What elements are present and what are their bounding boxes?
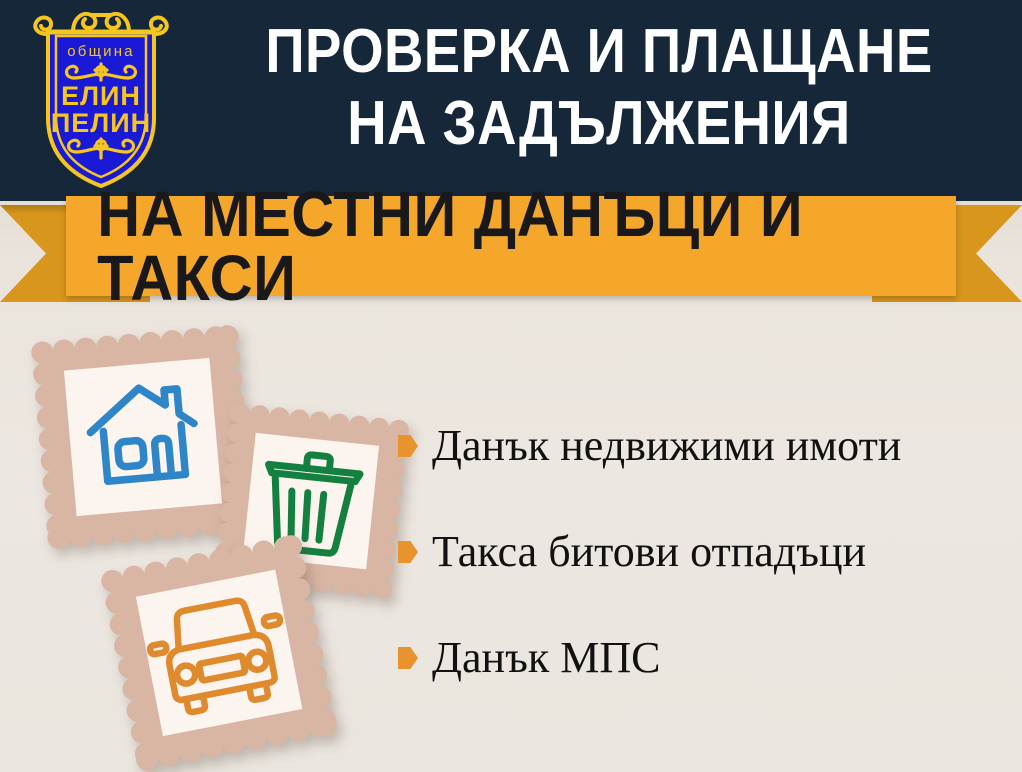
coat-of-arms-icon: община ЕЛИН ПЕЛИН	[26, 6, 176, 192]
list-item[interactable]: Данък МПС	[398, 632, 1008, 684]
logo-line-pelin: ПЕЛИН	[51, 108, 151, 138]
list-item[interactable]: Такса битови отпадъци	[398, 526, 1008, 578]
logo-line-elin: ЕЛИН	[61, 81, 141, 111]
list-item-label: Данък МПС	[432, 635, 660, 681]
tax-types-list: Данък недвижими имоти Такса битови отпад…	[398, 420, 1008, 684]
car-stamp	[96, 530, 341, 772]
logo-line-obshtina: община	[67, 43, 134, 60]
list-item-label: Такса битови отпадъци	[432, 529, 866, 575]
list-item[interactable]: Данък недвижими имоти	[398, 420, 1008, 472]
ribbon-banner: НА МЕСТНИ ДАНЪЦИ И ТАКСИ	[0, 196, 1022, 308]
poster-canvas: община ЕЛИН ПЕЛИН ПРОВЕРКА И ПЛАЩАНЕ НА …	[0, 0, 1022, 772]
municipality-logo: община ЕЛИН ПЕЛИН	[26, 6, 176, 192]
arrow-bullet-icon	[398, 541, 418, 563]
header-bar: община ЕЛИН ПЕЛИН ПРОВЕРКА И ПЛАЩАНЕ НА …	[0, 0, 1022, 201]
ribbon-band: НА МЕСТНИ ДАНЪЦИ И ТАКСИ	[66, 196, 956, 296]
arrow-bullet-icon	[398, 647, 418, 669]
page-title: ПРОВЕРКА И ПЛАЩАНЕ НА ЗАДЪЛЖЕНИЯ	[236, 16, 963, 160]
arrow-bullet-icon	[398, 435, 418, 457]
ribbon-label: НА МЕСТНИ ДАНЪЦИ И ТАКСИ	[97, 196, 925, 296]
list-item-label: Данък недвижими имоти	[432, 423, 901, 469]
